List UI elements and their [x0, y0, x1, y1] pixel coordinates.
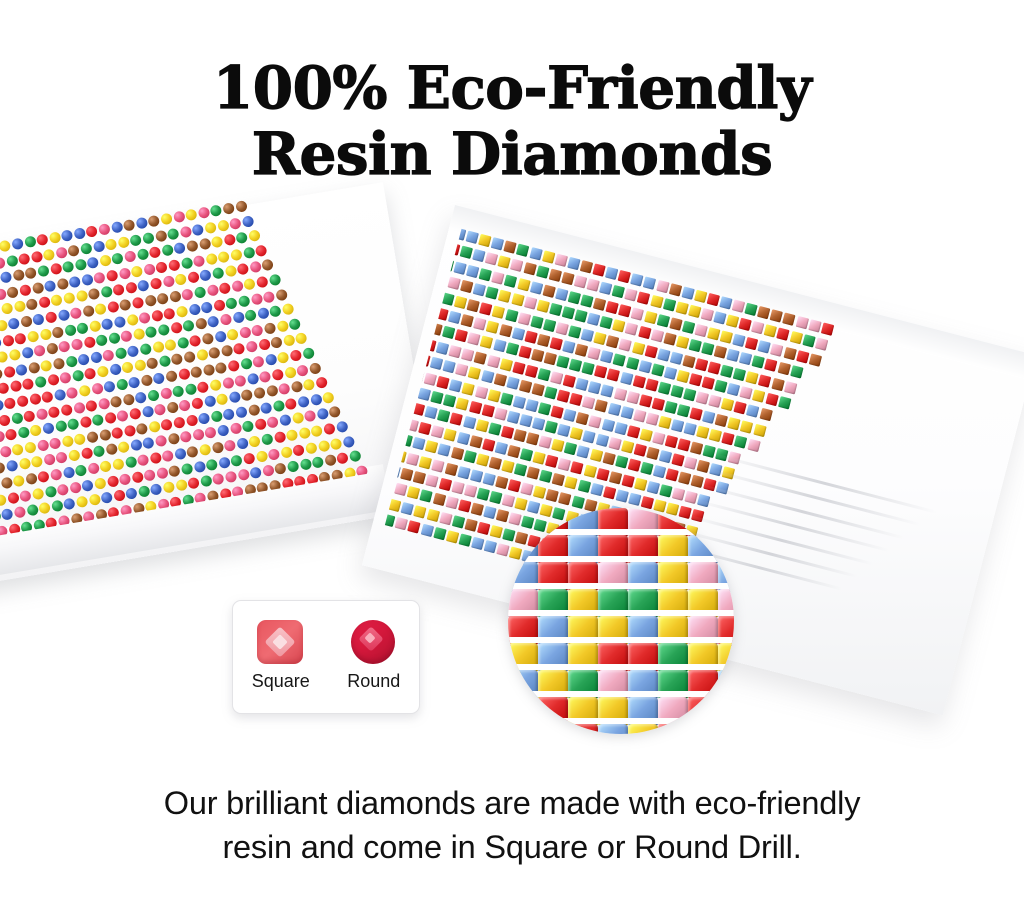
drill [544, 386, 557, 399]
legend-label-square: Square [252, 671, 310, 692]
drill [272, 399, 285, 412]
drill [746, 405, 759, 418]
drill [430, 357, 443, 370]
drill [476, 487, 489, 500]
drill [310, 393, 323, 406]
drill [95, 334, 108, 347]
drill [450, 413, 463, 426]
drill [0, 256, 6, 269]
drill [486, 321, 499, 334]
drill [17, 426, 30, 439]
drill [658, 416, 671, 429]
drill [593, 297, 606, 310]
drill [244, 278, 257, 291]
legend-gem-row [233, 615, 419, 669]
drill [256, 276, 269, 289]
square-gem-icon [257, 620, 303, 664]
drill [37, 470, 50, 483]
drill [241, 215, 254, 228]
drill [73, 401, 86, 414]
drill [645, 379, 658, 392]
closeup-drill [628, 724, 658, 734]
drill [61, 229, 74, 242]
drill [206, 284, 219, 297]
drill [117, 410, 130, 423]
drill [88, 288, 101, 301]
drill [401, 502, 414, 515]
drill [733, 367, 746, 380]
drill [455, 329, 468, 342]
drill [438, 444, 451, 457]
drill [518, 312, 531, 325]
drill [168, 464, 181, 477]
drill [83, 336, 96, 349]
drill [76, 496, 89, 509]
drill [516, 244, 529, 257]
drill [342, 435, 355, 448]
drill [5, 428, 18, 441]
drill [592, 263, 605, 276]
drill [18, 458, 31, 471]
drill [116, 378, 129, 391]
drill [196, 349, 209, 362]
drill [97, 366, 110, 379]
drill [329, 406, 342, 419]
drill [125, 487, 138, 500]
drill [87, 257, 100, 270]
drill [247, 372, 260, 385]
drill [265, 353, 278, 366]
drill [170, 322, 183, 335]
drill [51, 326, 64, 339]
drill [412, 437, 425, 450]
drill [458, 500, 471, 513]
drill [149, 452, 162, 465]
drill [498, 290, 511, 303]
drill [627, 459, 640, 472]
drill [32, 487, 45, 500]
drill [489, 491, 502, 504]
drill [84, 368, 97, 381]
drill [11, 238, 24, 251]
drill [97, 397, 110, 410]
drill [615, 455, 628, 468]
drill [302, 347, 315, 360]
drill [254, 418, 267, 431]
drill [445, 496, 458, 509]
drill [752, 389, 765, 402]
drill [243, 246, 256, 259]
drill [167, 433, 180, 446]
drill [580, 260, 593, 273]
drill [524, 296, 537, 309]
drill [0, 414, 11, 427]
drill [268, 274, 281, 287]
drill [216, 393, 229, 406]
drill [657, 348, 670, 361]
drill [235, 200, 248, 213]
drill [263, 290, 276, 303]
drill [248, 404, 261, 417]
drill [551, 405, 564, 418]
drill [420, 490, 433, 503]
drill [574, 309, 587, 322]
drill [305, 441, 318, 454]
drill [815, 338, 828, 351]
drill [238, 295, 251, 308]
drill [513, 395, 526, 408]
drill [473, 283, 486, 296]
drill [406, 452, 419, 465]
drill [309, 362, 322, 375]
drill [671, 419, 684, 432]
drill [50, 468, 63, 481]
drill [529, 247, 542, 260]
drill [463, 416, 476, 429]
drill [603, 486, 616, 499]
drill [493, 373, 506, 386]
drill [634, 477, 647, 490]
drill [227, 360, 240, 373]
drill [463, 450, 476, 463]
drill [230, 454, 243, 467]
drill [432, 459, 445, 472]
drill [12, 269, 25, 282]
drill [236, 232, 249, 245]
drill [524, 330, 537, 343]
drill [34, 376, 47, 389]
drill [50, 294, 63, 307]
drill [394, 483, 407, 496]
drill [110, 395, 123, 408]
drill [292, 412, 305, 425]
drill [166, 401, 179, 414]
drill [26, 298, 39, 311]
drill [507, 411, 520, 424]
drill [187, 477, 200, 490]
drill [151, 309, 164, 322]
drill [277, 351, 290, 364]
drill [51, 500, 64, 513]
drill [570, 427, 583, 440]
drill [720, 330, 733, 343]
drill [299, 458, 312, 471]
drill [15, 363, 28, 376]
drill [156, 261, 169, 274]
drill [706, 293, 719, 306]
drill [280, 446, 293, 459]
drill [510, 259, 523, 272]
drill [124, 456, 137, 469]
drill [39, 328, 52, 341]
drill [552, 473, 565, 486]
drill [61, 435, 74, 448]
drill [525, 364, 538, 377]
drill [174, 448, 187, 461]
drill [577, 446, 590, 459]
drill [495, 475, 508, 488]
drill [795, 316, 808, 329]
drill [633, 409, 646, 422]
drill [439, 512, 452, 525]
drill [31, 456, 44, 469]
drill [702, 410, 715, 423]
drill [137, 280, 150, 293]
drill [207, 315, 220, 328]
drill [79, 416, 92, 429]
drill [316, 408, 329, 421]
drill [664, 401, 677, 414]
drill [181, 462, 194, 475]
drill [490, 525, 503, 538]
drill [569, 393, 582, 406]
drill [618, 270, 631, 283]
drill [19, 284, 32, 297]
drill [609, 471, 622, 484]
drill [478, 234, 491, 247]
drill [192, 223, 205, 236]
drill [114, 315, 127, 328]
drill [158, 324, 171, 337]
drill [595, 399, 608, 412]
drill [548, 269, 561, 282]
drill [624, 289, 637, 302]
drill [27, 330, 40, 343]
drill [437, 410, 450, 423]
drill [632, 375, 645, 388]
drill [59, 372, 72, 385]
drill [581, 362, 594, 375]
drill [169, 290, 182, 303]
drill [303, 379, 316, 392]
drill [60, 403, 73, 416]
drill [140, 374, 153, 387]
drill [41, 391, 54, 404]
drill [105, 238, 118, 251]
drill [58, 340, 71, 353]
drill [620, 372, 633, 385]
drill [324, 454, 337, 467]
drill [669, 317, 682, 330]
drill [255, 450, 268, 463]
drill [448, 311, 461, 324]
drill [650, 295, 663, 308]
drill [558, 492, 571, 505]
drill [297, 395, 310, 408]
drill [198, 206, 211, 219]
drill [777, 362, 790, 375]
drill [764, 325, 777, 338]
drill [414, 505, 427, 518]
drill [68, 450, 81, 463]
drill [121, 361, 134, 374]
drill [122, 393, 135, 406]
drill [583, 430, 596, 443]
drill [123, 219, 136, 232]
drill [143, 469, 156, 482]
drill [14, 506, 27, 519]
drill [732, 299, 745, 312]
drill [214, 330, 227, 343]
drill [596, 468, 609, 481]
drill [274, 462, 287, 475]
drill [407, 486, 420, 499]
drill [618, 304, 631, 317]
drill [108, 332, 121, 345]
drill [413, 471, 426, 484]
drill [229, 217, 242, 230]
drill [499, 358, 512, 371]
drill [225, 471, 238, 484]
drill [147, 389, 160, 402]
drill [449, 345, 462, 358]
drill [278, 383, 291, 396]
drill [36, 439, 49, 452]
drill [633, 443, 646, 456]
drill [790, 365, 803, 378]
drill [139, 343, 152, 356]
drill [118, 441, 131, 454]
drill [231, 280, 244, 293]
drill [418, 388, 431, 401]
drill [656, 280, 669, 293]
drill [257, 307, 270, 320]
drill [550, 371, 563, 384]
caption-line-2: resin and come in Square or Round Drill. [0, 826, 1024, 870]
drill [438, 478, 451, 491]
drill [18, 252, 31, 265]
drill [224, 439, 237, 452]
drill [590, 483, 603, 496]
drill [732, 333, 745, 346]
drill [150, 483, 163, 496]
drill [571, 495, 584, 508]
drill [0, 477, 13, 490]
drill [92, 240, 105, 253]
drill [173, 416, 186, 429]
drill [21, 347, 34, 360]
drill [690, 407, 703, 420]
drill [275, 288, 288, 301]
drill [7, 491, 20, 504]
drill [12, 443, 25, 456]
drill [270, 337, 283, 350]
drill [556, 356, 569, 369]
drill [223, 234, 236, 247]
drill [499, 324, 512, 337]
drill [492, 271, 505, 284]
drill [586, 279, 599, 292]
drill [612, 319, 625, 332]
drill [461, 348, 474, 361]
drill [221, 345, 234, 358]
drill [494, 407, 507, 420]
drill [210, 410, 223, 423]
drill [757, 306, 770, 319]
drill [209, 378, 222, 391]
drill [576, 412, 589, 425]
drill [425, 440, 438, 453]
drill [193, 255, 206, 268]
drill [474, 351, 487, 364]
drill [36, 233, 49, 246]
drill [2, 334, 15, 347]
drill [75, 290, 88, 303]
drill [105, 443, 118, 456]
drill [224, 265, 237, 278]
drill [283, 334, 296, 347]
drill [530, 315, 543, 328]
drill [419, 456, 432, 469]
drill [418, 422, 431, 435]
drill [109, 364, 122, 377]
drill [111, 427, 124, 440]
drill [808, 319, 821, 332]
drill [6, 460, 19, 473]
drill [246, 341, 259, 354]
drill [317, 439, 330, 452]
drill [130, 234, 143, 247]
drill [181, 288, 194, 301]
drill [476, 453, 489, 466]
drill [464, 484, 477, 497]
drill [420, 524, 433, 537]
drill [702, 376, 715, 389]
drill [5, 254, 18, 267]
drill [129, 408, 142, 421]
drill [167, 227, 180, 240]
drill [753, 423, 766, 436]
drill [38, 296, 51, 309]
drill [191, 397, 204, 410]
drill [721, 398, 734, 411]
drill [183, 351, 196, 364]
drill [0, 382, 10, 395]
drill [304, 410, 317, 423]
drill [148, 215, 161, 228]
drill [8, 317, 21, 330]
drill [176, 305, 189, 318]
drill [112, 458, 125, 471]
drill [739, 352, 752, 365]
drill [599, 282, 612, 295]
drill [31, 282, 44, 295]
drill [330, 437, 343, 450]
drill [222, 376, 235, 389]
drill [514, 463, 527, 476]
drill [689, 373, 702, 386]
drill [482, 438, 495, 451]
drill [565, 476, 578, 489]
drill [253, 387, 266, 400]
drill [583, 464, 596, 477]
drill [240, 357, 253, 370]
drill [68, 244, 81, 257]
drill [752, 355, 765, 368]
drill [177, 336, 190, 349]
drill [91, 382, 104, 395]
drill [136, 422, 149, 435]
drill [447, 277, 460, 290]
drill [106, 269, 119, 282]
drill [222, 202, 235, 215]
drill [62, 466, 75, 479]
drill [0, 271, 12, 284]
drill [677, 438, 690, 451]
drill [69, 481, 82, 494]
drill [1, 508, 14, 521]
drill [322, 391, 335, 404]
